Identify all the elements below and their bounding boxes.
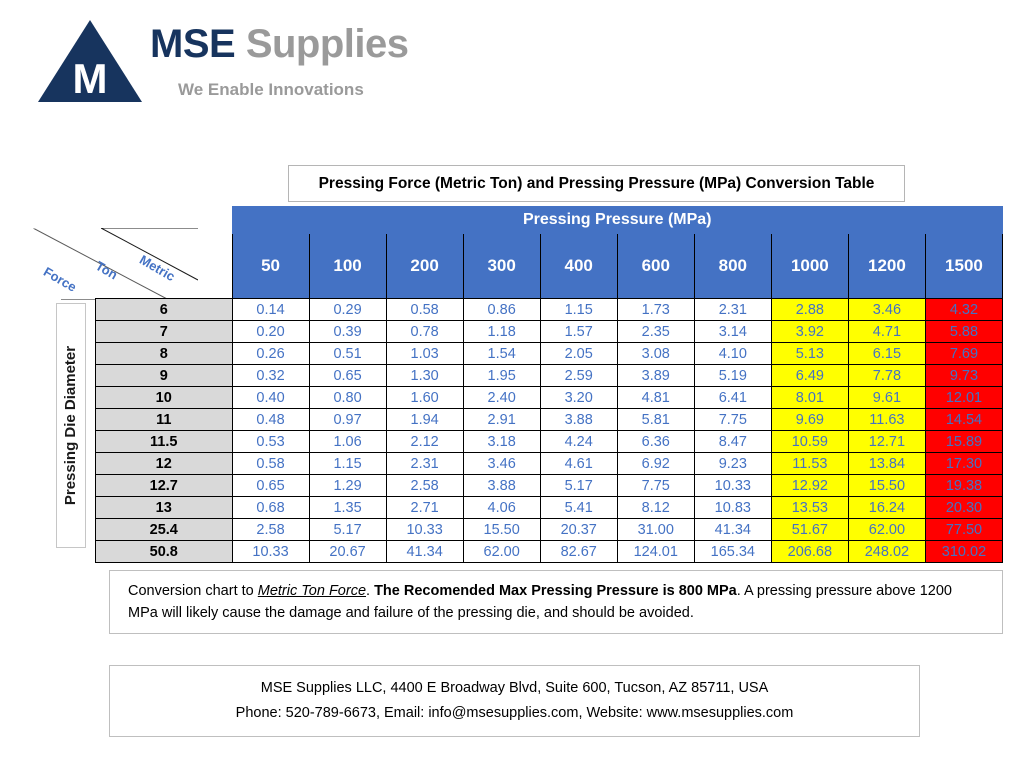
cell-d11-p400: 3.88 bbox=[540, 409, 617, 431]
table-row: 110.480.971.942.913.885.817.759.6911.631… bbox=[96, 409, 1003, 431]
cell-d9-p1500: 9.73 bbox=[925, 365, 1002, 387]
table-row: 12.70.651.292.583.885.177.7510.3312.9215… bbox=[96, 475, 1003, 497]
cell-d11.5-p600: 6.36 bbox=[617, 431, 694, 453]
cell-d13-p50: 0.68 bbox=[232, 497, 309, 519]
cell-d10-p50: 0.40 bbox=[232, 387, 309, 409]
cell-d8-p50: 0.26 bbox=[232, 343, 309, 365]
cell-d9-p300: 1.95 bbox=[463, 365, 540, 387]
logo-word-supplies: Supplies bbox=[246, 22, 409, 66]
table-row: 70.200.390.781.181.572.353.143.924.715.8… bbox=[96, 321, 1003, 343]
cell-d9-p400: 2.59 bbox=[540, 365, 617, 387]
cell-d11.5-p1500: 15.89 bbox=[925, 431, 1002, 453]
row-header-50.8: 50.8 bbox=[96, 541, 233, 563]
cell-d9-p1200: 7.78 bbox=[848, 365, 925, 387]
note-part-2: . bbox=[366, 583, 374, 599]
cell-d11-p300: 2.91 bbox=[463, 409, 540, 431]
cell-d10-p800: 6.41 bbox=[694, 387, 771, 409]
cell-d12.7-p200: 2.58 bbox=[386, 475, 463, 497]
column-header-400: 400 bbox=[540, 234, 617, 299]
mse-triangle-logo-icon: M bbox=[38, 20, 142, 102]
cell-d50.8-p100: 20.67 bbox=[309, 541, 386, 563]
cell-d6-p600: 1.73 bbox=[617, 299, 694, 321]
cell-d6-p300: 0.86 bbox=[463, 299, 540, 321]
cell-d12-p100: 1.15 bbox=[309, 453, 386, 475]
cell-d12.7-p600: 7.75 bbox=[617, 475, 694, 497]
cell-d50.8-p300: 62.00 bbox=[463, 541, 540, 563]
cell-d11-p50: 0.48 bbox=[232, 409, 309, 431]
column-header-200: 200 bbox=[386, 234, 463, 299]
column-header-600: 600 bbox=[617, 234, 694, 299]
cell-d11.5-p1000: 10.59 bbox=[771, 431, 848, 453]
cell-d9-p200: 1.30 bbox=[386, 365, 463, 387]
conversion-table: Pressing Pressure (MPa) 5010020030040060… bbox=[95, 206, 1003, 563]
cell-d25.4-p200: 10.33 bbox=[386, 519, 463, 541]
cell-d7-p400: 1.57 bbox=[540, 321, 617, 343]
cell-d13-p200: 2.71 bbox=[386, 497, 463, 519]
table-title-box: Pressing Force (Metric Ton) and Pressing… bbox=[288, 165, 905, 202]
cell-d10-p600: 4.81 bbox=[617, 387, 694, 409]
logo-word-mse: MSE bbox=[150, 22, 235, 66]
band-spacer bbox=[96, 207, 233, 234]
table-band-row: Pressing Pressure (MPa) bbox=[96, 207, 1003, 234]
cell-d50.8-p600: 124.01 bbox=[617, 541, 694, 563]
cell-d8-p300: 1.54 bbox=[463, 343, 540, 365]
cell-d7-p50: 0.20 bbox=[232, 321, 309, 343]
column-header-300: 300 bbox=[463, 234, 540, 299]
cell-d50.8-p1000: 206.68 bbox=[771, 541, 848, 563]
cell-d12.7-p300: 3.88 bbox=[463, 475, 540, 497]
cell-d11.5-p400: 4.24 bbox=[540, 431, 617, 453]
cell-d11-p100: 0.97 bbox=[309, 409, 386, 431]
cell-d8-p100: 0.51 bbox=[309, 343, 386, 365]
cell-d50.8-p400: 82.67 bbox=[540, 541, 617, 563]
cell-d10-p300: 2.40 bbox=[463, 387, 540, 409]
cell-d12.7-p1000: 12.92 bbox=[771, 475, 848, 497]
cell-d12.7-p400: 5.17 bbox=[540, 475, 617, 497]
cell-d25.4-p300: 15.50 bbox=[463, 519, 540, 541]
table-row: 100.400.801.602.403.204.816.418.019.6112… bbox=[96, 387, 1003, 409]
table-row: 120.581.152.313.464.616.929.2311.5313.84… bbox=[96, 453, 1003, 475]
cell-d13-p1500: 20.30 bbox=[925, 497, 1002, 519]
cell-d7-p300: 1.18 bbox=[463, 321, 540, 343]
table-row: 90.320.651.301.952.593.895.196.497.789.7… bbox=[96, 365, 1003, 387]
row-header-11: 11 bbox=[96, 409, 233, 431]
cell-d11.5-p300: 3.18 bbox=[463, 431, 540, 453]
cell-d50.8-p800: 165.34 bbox=[694, 541, 771, 563]
row-header-9: 9 bbox=[96, 365, 233, 387]
row-header-12.7: 12.7 bbox=[96, 475, 233, 497]
note-strong: The Recomended Max Pressing Pressure is … bbox=[374, 583, 737, 599]
cell-d11-p1000: 9.69 bbox=[771, 409, 848, 431]
cell-d12-p1000: 11.53 bbox=[771, 453, 848, 475]
row-header-7: 7 bbox=[96, 321, 233, 343]
cell-d8-p800: 4.10 bbox=[694, 343, 771, 365]
cell-d6-p800: 2.31 bbox=[694, 299, 771, 321]
table-row: 60.140.290.580.861.151.732.312.883.464.3… bbox=[96, 299, 1003, 321]
cell-d25.4-p600: 31.00 bbox=[617, 519, 694, 541]
cell-d10-p400: 3.20 bbox=[540, 387, 617, 409]
table-column-header-row: 50100200300400600800100012001500 bbox=[96, 234, 1003, 299]
cell-d8-p600: 3.08 bbox=[617, 343, 694, 365]
cell-d25.4-p100: 5.17 bbox=[309, 519, 386, 541]
row-header-10: 10 bbox=[96, 387, 233, 409]
row-header-12: 12 bbox=[96, 453, 233, 475]
cell-d11-p1200: 11.63 bbox=[848, 409, 925, 431]
note-part-1: Conversion chart to bbox=[128, 583, 258, 599]
row-axis-label: Pressing Die Diameter bbox=[63, 346, 80, 505]
cell-d12.7-p800: 10.33 bbox=[694, 475, 771, 497]
cell-d25.4-p1000: 51.67 bbox=[771, 519, 848, 541]
cell-d11.5-p50: 0.53 bbox=[232, 431, 309, 453]
cell-d10-p100: 0.80 bbox=[309, 387, 386, 409]
cell-d25.4-p400: 20.37 bbox=[540, 519, 617, 541]
cell-d12-p800: 9.23 bbox=[694, 453, 771, 475]
cell-d9-p50: 0.32 bbox=[232, 365, 309, 387]
cell-d10-p1200: 9.61 bbox=[848, 387, 925, 409]
cell-d6-p1500: 4.32 bbox=[925, 299, 1002, 321]
cell-d8-p400: 2.05 bbox=[540, 343, 617, 365]
conversion-table-region: Force Ton Metric Pressing Die Diameter P… bbox=[33, 206, 1003, 569]
column-header-1000: 1000 bbox=[771, 234, 848, 299]
cell-d6-p50: 0.14 bbox=[232, 299, 309, 321]
cell-d11.5-p1200: 12.71 bbox=[848, 431, 925, 453]
cell-d9-p600: 3.89 bbox=[617, 365, 694, 387]
cell-d12.7-p1200: 15.50 bbox=[848, 475, 925, 497]
row-axis-label-box: Pressing Die Diameter bbox=[56, 303, 86, 548]
brand-logo: M MSE Supplies We Enable Innovations bbox=[38, 14, 398, 104]
row-header-13: 13 bbox=[96, 497, 233, 519]
row-header-8: 8 bbox=[96, 343, 233, 365]
cell-d13-p600: 8.12 bbox=[617, 497, 694, 519]
cell-d12-p400: 4.61 bbox=[540, 453, 617, 475]
column-header-100: 100 bbox=[309, 234, 386, 299]
cell-d50.8-p50: 10.33 bbox=[232, 541, 309, 563]
column-header-50: 50 bbox=[232, 234, 309, 299]
column-header-800: 800 bbox=[694, 234, 771, 299]
cell-d13-p1000: 13.53 bbox=[771, 497, 848, 519]
cell-d6-p1200: 3.46 bbox=[848, 299, 925, 321]
cell-d8-p1500: 7.69 bbox=[925, 343, 1002, 365]
cell-d12-p50: 0.58 bbox=[232, 453, 309, 475]
column-header-1500: 1500 bbox=[925, 234, 1002, 299]
cell-d7-p1500: 5.88 bbox=[925, 321, 1002, 343]
logo-tagline: We Enable Innovations bbox=[178, 80, 364, 100]
table-row: 50.810.3320.6741.3462.0082.67124.01165.3… bbox=[96, 541, 1003, 563]
row-header-25.4: 25.4 bbox=[96, 519, 233, 541]
cell-d10-p1500: 12.01 bbox=[925, 387, 1002, 409]
cell-d50.8-p1200: 248.02 bbox=[848, 541, 925, 563]
cell-d12-p1200: 13.84 bbox=[848, 453, 925, 475]
cell-d13-p800: 10.83 bbox=[694, 497, 771, 519]
cell-d25.4-p50: 2.58 bbox=[232, 519, 309, 541]
cell-d11.5-p100: 1.06 bbox=[309, 431, 386, 453]
cell-d11-p200: 1.94 bbox=[386, 409, 463, 431]
row-header-11.5: 11.5 bbox=[96, 431, 233, 453]
cell-d13-p400: 5.41 bbox=[540, 497, 617, 519]
cell-d12-p200: 2.31 bbox=[386, 453, 463, 475]
table-row: 25.42.585.1710.3315.5020.3731.0041.3451.… bbox=[96, 519, 1003, 541]
row-header-6: 6 bbox=[96, 299, 233, 321]
cell-d9-p800: 5.19 bbox=[694, 365, 771, 387]
cell-d7-p1000: 3.92 bbox=[771, 321, 848, 343]
cell-d6-p400: 1.15 bbox=[540, 299, 617, 321]
table-row: 80.260.511.031.542.053.084.105.136.157.6… bbox=[96, 343, 1003, 365]
cell-d12.7-p50: 0.65 bbox=[232, 475, 309, 497]
cell-d10-p1000: 8.01 bbox=[771, 387, 848, 409]
note-emphasis: Metric Ton Force bbox=[258, 583, 366, 599]
cell-d11-p800: 7.75 bbox=[694, 409, 771, 431]
cell-d11-p1500: 14.54 bbox=[925, 409, 1002, 431]
note-box: Conversion chart to Metric Ton Force. Th… bbox=[109, 570, 1003, 634]
cell-d11.5-p200: 2.12 bbox=[386, 431, 463, 453]
table-head: Pressing Pressure (MPa) 5010020030040060… bbox=[96, 207, 1003, 299]
cell-d25.4-p800: 41.34 bbox=[694, 519, 771, 541]
cell-d13-p300: 4.06 bbox=[463, 497, 540, 519]
cell-d13-p100: 1.35 bbox=[309, 497, 386, 519]
logo-wordmark: MSE Supplies bbox=[150, 22, 409, 67]
cell-d8-p200: 1.03 bbox=[386, 343, 463, 365]
cell-d12-p600: 6.92 bbox=[617, 453, 694, 475]
cell-d10-p200: 1.60 bbox=[386, 387, 463, 409]
cell-d50.8-p200: 41.34 bbox=[386, 541, 463, 563]
footer-address-line: MSE Supplies LLC, 4400 E Broadway Blvd, … bbox=[261, 676, 769, 701]
cell-d7-p600: 2.35 bbox=[617, 321, 694, 343]
table-body: 60.140.290.580.861.151.732.312.883.464.3… bbox=[96, 299, 1003, 563]
cell-d50.8-p1500: 310.02 bbox=[925, 541, 1002, 563]
cell-d12-p1500: 17.30 bbox=[925, 453, 1002, 475]
cell-d7-p100: 0.39 bbox=[309, 321, 386, 343]
cell-d6-p200: 0.58 bbox=[386, 299, 463, 321]
cell-d25.4-p1500: 77.50 bbox=[925, 519, 1002, 541]
cell-d13-p1200: 16.24 bbox=[848, 497, 925, 519]
table-row: 11.50.531.062.123.184.246.368.4710.5912.… bbox=[96, 431, 1003, 453]
column-band-label: Pressing Pressure (MPa) bbox=[232, 207, 1003, 234]
cell-d7-p1200: 4.71 bbox=[848, 321, 925, 343]
footer-contact-line: Phone: 520-789-6673, Email: info@msesupp… bbox=[236, 701, 794, 726]
cell-d12.7-p100: 1.29 bbox=[309, 475, 386, 497]
table-row: 130.681.352.714.065.418.1210.8313.5316.2… bbox=[96, 497, 1003, 519]
note-text: Conversion chart to Metric Ton Force. Th… bbox=[128, 581, 984, 625]
cell-d12.7-p1500: 19.38 bbox=[925, 475, 1002, 497]
cell-d8-p1000: 5.13 bbox=[771, 343, 848, 365]
cell-d9-p1000: 6.49 bbox=[771, 365, 848, 387]
company-footer-box: MSE Supplies LLC, 4400 E Broadway Blvd, … bbox=[109, 665, 920, 737]
cell-d7-p200: 0.78 bbox=[386, 321, 463, 343]
cell-d11-p600: 5.81 bbox=[617, 409, 694, 431]
cell-d6-p1000: 2.88 bbox=[771, 299, 848, 321]
column-header-1200: 1200 bbox=[848, 234, 925, 299]
cell-d9-p100: 0.65 bbox=[309, 365, 386, 387]
cell-d12-p300: 3.46 bbox=[463, 453, 540, 475]
cell-d6-p100: 0.29 bbox=[309, 299, 386, 321]
cell-d11.5-p800: 8.47 bbox=[694, 431, 771, 453]
cell-d8-p1200: 6.15 bbox=[848, 343, 925, 365]
cell-d25.4-p1200: 62.00 bbox=[848, 519, 925, 541]
page-title: Pressing Force (Metric Ton) and Pressing… bbox=[319, 175, 875, 193]
logo-letter-m: M bbox=[38, 20, 142, 102]
colhead-spacer bbox=[96, 234, 233, 299]
cell-d7-p800: 3.14 bbox=[694, 321, 771, 343]
